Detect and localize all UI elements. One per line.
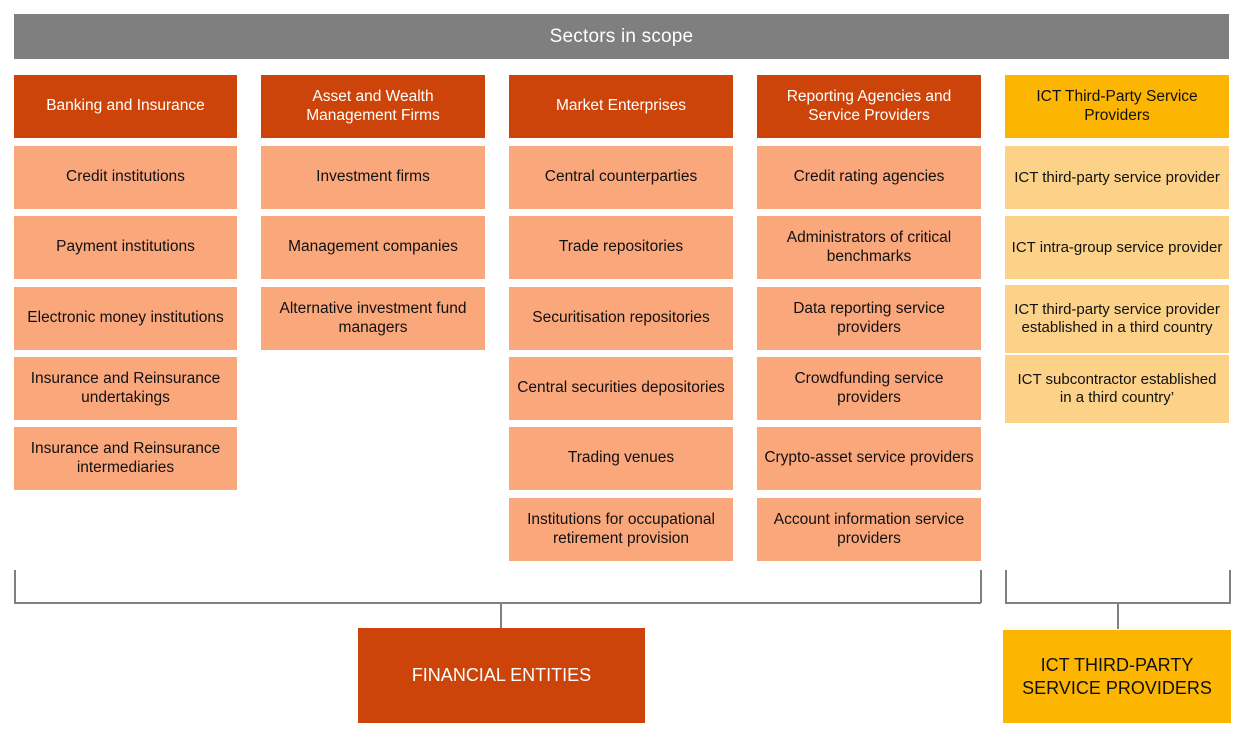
banner-sectors-in-scope: Sectors in scope — [14, 14, 1229, 59]
item-ict-third-party-service-provider[interactable]: ICT third-party service provider — [1005, 146, 1229, 209]
column-header-asset-and-wealth-management-firms[interactable]: Asset and Wealth Management Firms — [261, 75, 485, 138]
connector-left-bracket-end — [980, 570, 982, 603]
item-trade-repositories[interactable]: Trade repositories — [509, 216, 733, 279]
item-ict-intra-group-service-provider[interactable]: ICT intra-group service provider — [1005, 216, 1229, 279]
connector-left-bracket-horizontal — [14, 602, 981, 604]
item-payment-institutions[interactable]: Payment institutions — [14, 216, 237, 279]
item-management-companies[interactable]: Management companies — [261, 216, 485, 279]
connector-ict-providers-drop — [1117, 602, 1119, 629]
item-electronic-money-institutions[interactable]: Electronic money institutions — [14, 287, 237, 350]
item-trading-venues[interactable]: Trading venues — [509, 427, 733, 490]
item-securitisation-repositories[interactable]: Securitisation repositories — [509, 287, 733, 350]
column-header-market-enterprises[interactable]: Market Enterprises — [509, 75, 733, 138]
item-ict-third-party-service-provider-third-country[interactable]: ICT third-party service provider establi… — [1005, 285, 1229, 353]
item-account-information-service-providers[interactable]: Account information service providers — [757, 498, 981, 561]
banner-title: Sectors in scope — [550, 26, 694, 48]
item-crowdfunding-service-providers[interactable]: Crowdfunding service providers — [757, 357, 981, 420]
column-header-banking-and-insurance[interactable]: Banking and Insurance — [14, 75, 237, 138]
column-header-ict-third-party-service-providers[interactable]: ICT Third-Party Service Providers — [1005, 75, 1229, 138]
item-investment-firms[interactable]: Investment firms — [261, 146, 485, 209]
item-crypto-asset-service-providers[interactable]: Crypto-asset service providers — [757, 427, 981, 490]
item-alternative-investment-fund-managers[interactable]: Alternative investment fund managers — [261, 287, 485, 350]
connector-right-bracket-end — [1229, 570, 1231, 603]
item-insurance-and-reinsurance-undertakings[interactable]: Insurance and Reinsurance undertakings — [14, 357, 237, 420]
summary-box-financial-entities[interactable]: FINANCIAL ENTITIES — [358, 628, 645, 723]
diagram-canvas: Sectors in scope Banking and Insurance C… — [0, 0, 1243, 734]
item-ict-subcontractor-third-country[interactable]: ICT subcontractor established in a third… — [1005, 355, 1229, 423]
item-data-reporting-service-providers[interactable]: Data reporting service providers — [757, 287, 981, 350]
item-insurance-and-reinsurance-intermediaries[interactable]: Insurance and Reinsurance intermediaries — [14, 427, 237, 490]
item-administrators-of-critical-benchmarks[interactable]: Administrators of critical benchmarks — [757, 216, 981, 279]
item-credit-rating-agencies[interactable]: Credit rating agencies — [757, 146, 981, 209]
connector-right-bracket-start — [1005, 570, 1007, 603]
column-header-reporting-agencies-and-service-providers[interactable]: Reporting Agencies and Service Providers — [757, 75, 981, 138]
item-central-counterparties[interactable]: Central counterparties — [509, 146, 733, 209]
connector-left-bracket-start — [14, 570, 16, 603]
summary-box-ict-third-party-service-providers[interactable]: ICT THIRD-PARTY SERVICE PROVIDERS — [1003, 630, 1231, 723]
connector-financial-entities-drop — [500, 602, 502, 629]
item-central-securities-depositories[interactable]: Central securities depositories — [509, 357, 733, 420]
item-institutions-for-occupational-retirement-provision[interactable]: Institutions for occupational retirement… — [509, 498, 733, 561]
item-credit-institutions[interactable]: Credit institutions — [14, 146, 237, 209]
